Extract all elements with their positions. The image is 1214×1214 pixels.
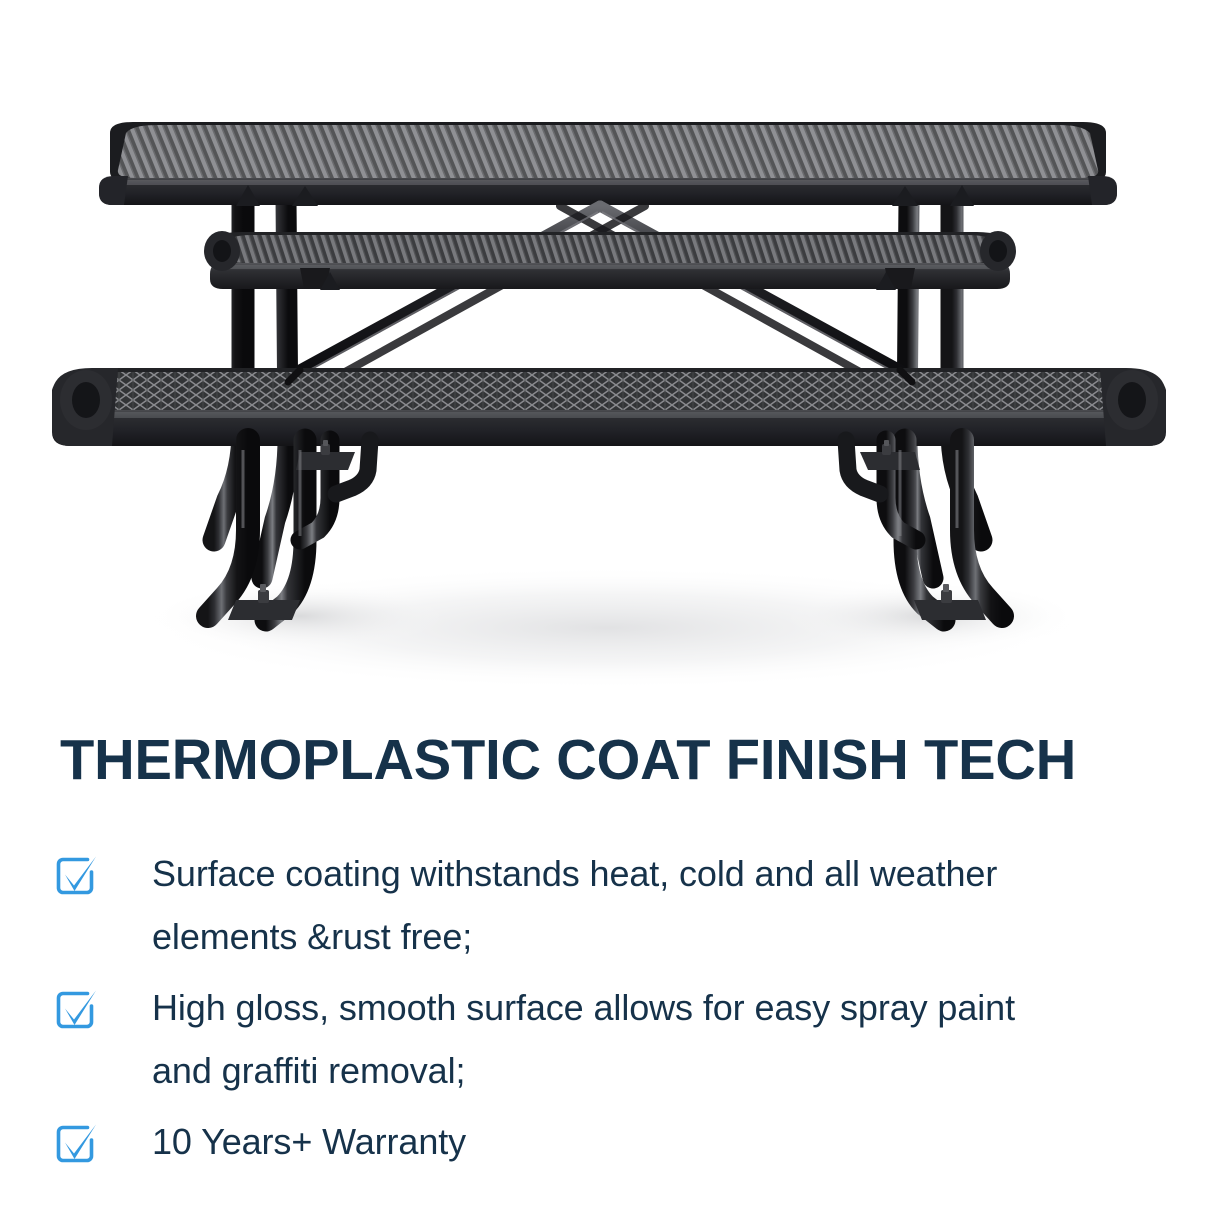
list-item-label: Surface coating withstands heat, cold an… [116,840,1146,968]
feature-list: Surface coating withstands heat, cold an… [54,840,1184,1179]
list-item: Surface coating withstands heat, cold an… [54,840,1184,968]
list-item-label: 10 Years+ Warranty [116,1108,1146,1173]
picnic-table-illustration [0,0,1214,714]
list-item: 10 Years+ Warranty [54,1108,1184,1173]
list-item-label: High gloss, smooth surface allows for ea… [116,974,1061,1102]
checkbox-checked-icon [54,840,116,898]
product-feature-page: THERMOPLASTIC COAT FINISH TECH Surface c… [0,0,1214,1214]
front-bench [52,368,1166,446]
product-image [0,0,1214,714]
checkbox-checked-icon [54,1108,116,1166]
list-item: High gloss, smooth surface allows for ea… [54,974,1184,1102]
page-title: THERMOPLASTIC COAT FINISH TECH [60,729,1163,791]
checkbox-checked-icon [54,974,116,1032]
